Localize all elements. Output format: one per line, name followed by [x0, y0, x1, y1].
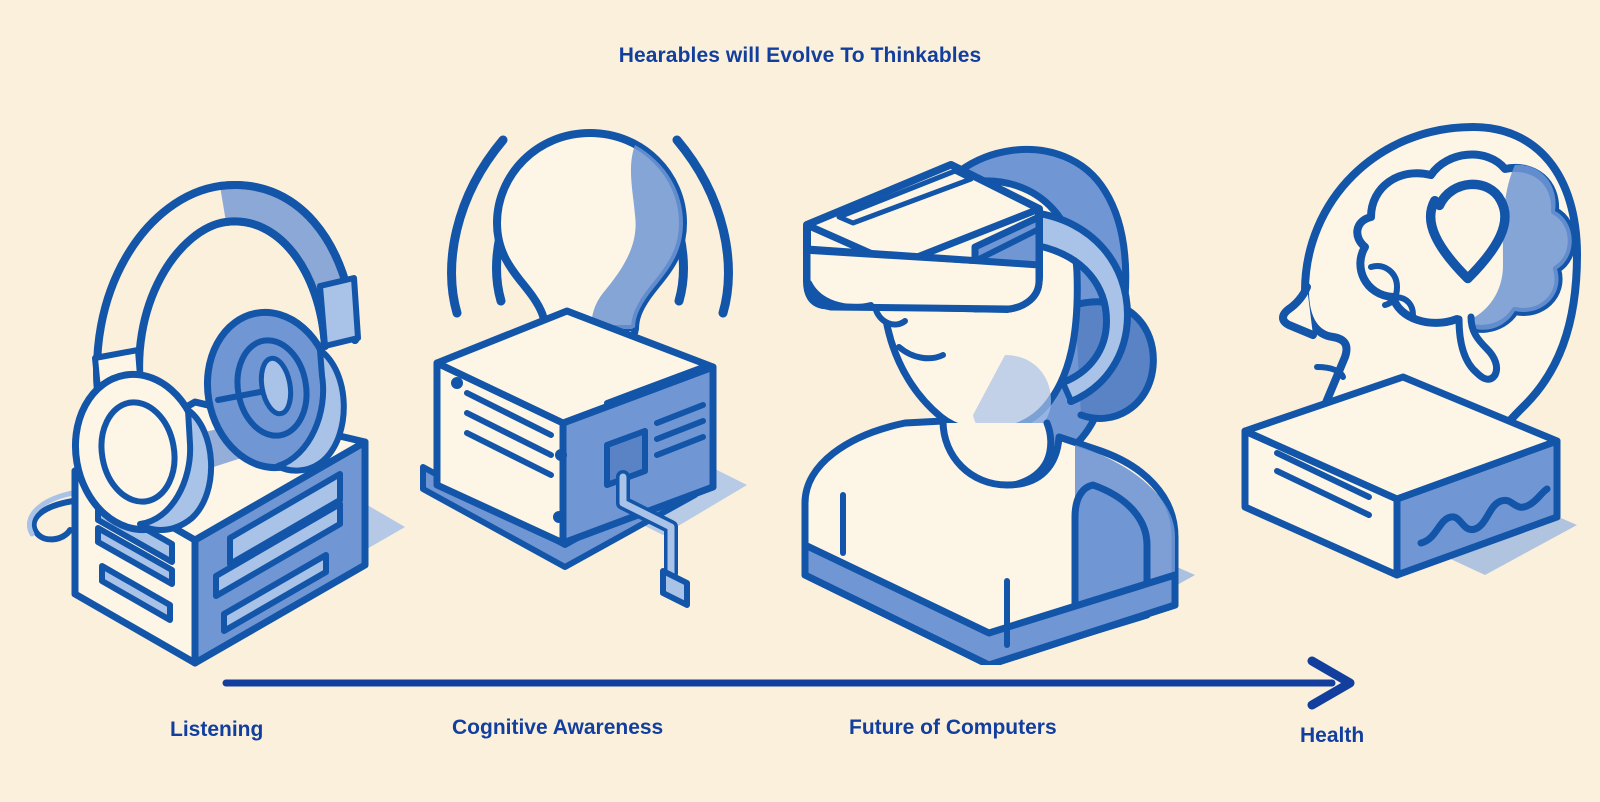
vr-headset-bust-icon [775, 105, 1215, 665]
stage-label-cognitive-awareness: Cognitive Awareness [452, 716, 663, 740]
stage-label-future-of-computers: Future of Computers [849, 716, 1057, 740]
infographic-canvas: Hearables will Evolve To Thinkables [0, 0, 1600, 802]
lightbulb-signal-on-pedestal-icon [395, 105, 775, 665]
brain-heart-head-icon [1185, 105, 1585, 665]
progression-arrow [220, 655, 1380, 715]
stage-label-health: Health [1300, 724, 1364, 748]
stage-label-listening: Listening [170, 718, 263, 742]
page-title: Hearables will Evolve To Thinkables [0, 44, 1600, 68]
